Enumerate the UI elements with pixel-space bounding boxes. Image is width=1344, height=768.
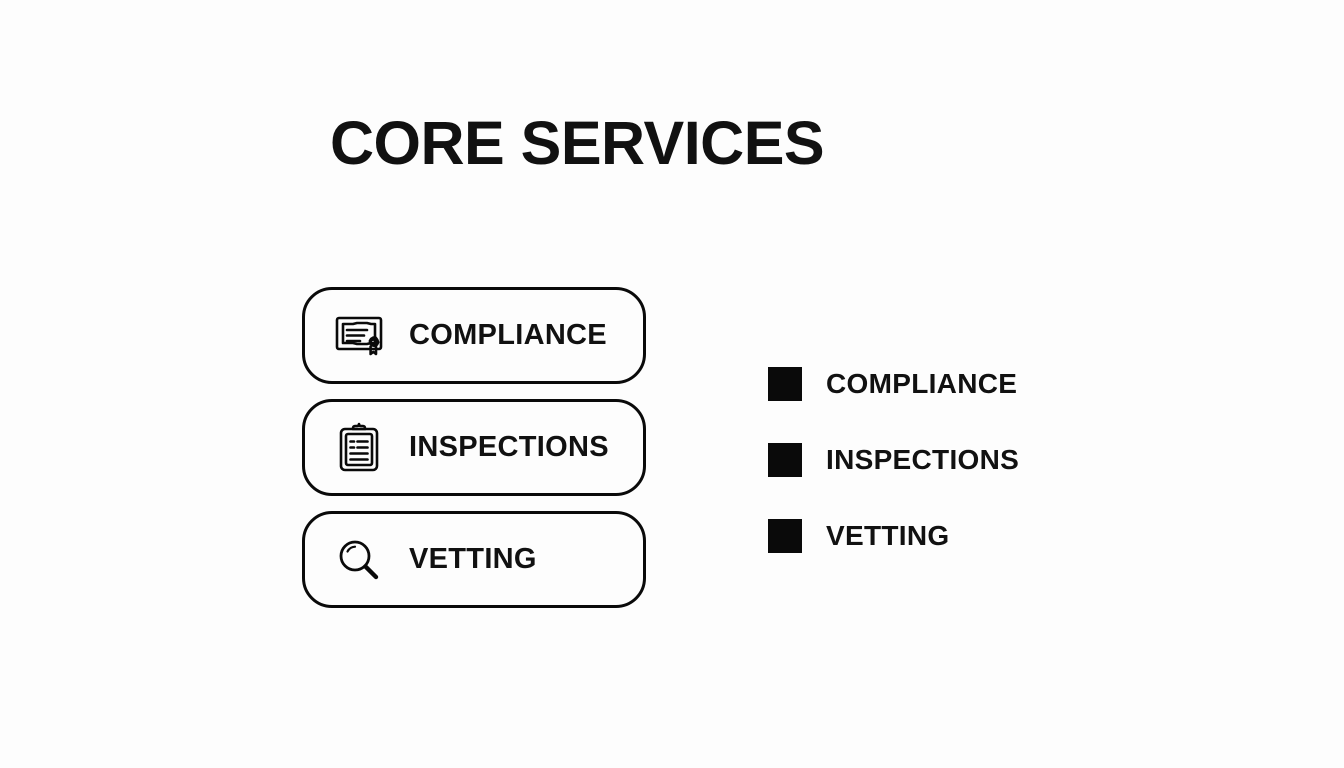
legend: COMPLIANCE INSPECTIONS VETTING bbox=[768, 367, 1019, 553]
legend-item-compliance: COMPLIANCE bbox=[768, 367, 1019, 401]
service-pill-inspections[interactable]: INSPECTIONS bbox=[302, 399, 646, 496]
service-label: VETTING bbox=[409, 543, 537, 576]
service-label: INSPECTIONS bbox=[409, 431, 609, 464]
magnifying-glass-icon bbox=[331, 532, 387, 588]
legend-swatch bbox=[768, 443, 802, 477]
clipboard-checklist-icon bbox=[331, 420, 387, 476]
legend-label: VETTING bbox=[826, 522, 949, 550]
services-list: COMPLIANCE INSPECTIONS bbox=[302, 287, 646, 608]
service-pill-compliance[interactable]: COMPLIANCE bbox=[302, 287, 646, 384]
legend-item-vetting: VETTING bbox=[768, 519, 1019, 553]
legend-item-inspections: INSPECTIONS bbox=[768, 443, 1019, 477]
service-pill-vetting[interactable]: VETTING bbox=[302, 511, 646, 608]
service-label: COMPLIANCE bbox=[409, 319, 607, 352]
slide-canvas: CORE SERVICES COMPLIANCE bbox=[0, 0, 1344, 768]
page-title: CORE SERVICES bbox=[330, 113, 824, 174]
legend-label: INSPECTIONS bbox=[826, 446, 1019, 474]
legend-swatch bbox=[768, 519, 802, 553]
certificate-icon bbox=[331, 308, 387, 364]
legend-label: COMPLIANCE bbox=[826, 370, 1017, 398]
legend-swatch bbox=[768, 367, 802, 401]
